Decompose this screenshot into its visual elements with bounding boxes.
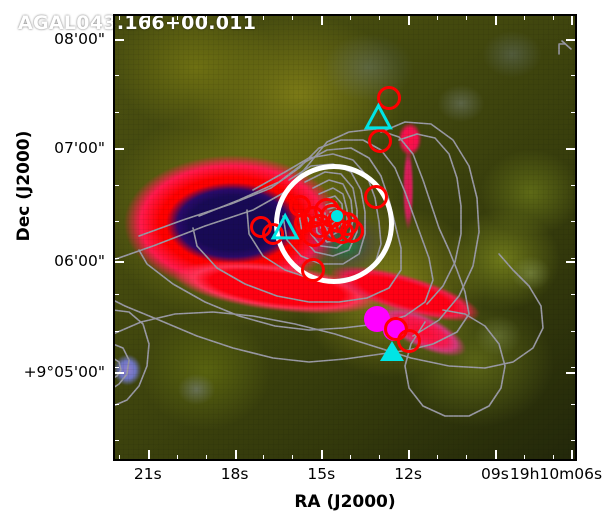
y-minor-tick xyxy=(571,294,577,295)
x-major-tick xyxy=(148,450,150,461)
y-major-tick xyxy=(566,372,577,374)
x-major-tick xyxy=(408,14,410,25)
y-major-tick xyxy=(113,261,124,263)
x-minor-tick xyxy=(177,14,178,20)
x-minor-tick xyxy=(263,14,264,20)
x-tick-label: 21s xyxy=(134,465,162,483)
y-axis-title: Dec (J2000) xyxy=(14,66,34,306)
y-minor-tick xyxy=(113,294,119,295)
y-tick-label: +9°05'00" xyxy=(24,363,105,381)
x-minor-tick xyxy=(524,14,525,20)
x-minor-tick xyxy=(553,14,554,20)
y-minor-tick xyxy=(571,331,577,332)
x-major-tick xyxy=(235,14,237,25)
y-minor-tick xyxy=(113,404,119,405)
x-minor-tick xyxy=(292,455,293,461)
x-tick-label: 15s xyxy=(307,465,335,483)
y-axis: 08'00" 07'00" 06'00" +9°05'00" Dec (J200… xyxy=(0,0,113,525)
x-minor-tick xyxy=(379,455,380,461)
y-minor-tick xyxy=(113,331,119,332)
y-minor-tick xyxy=(571,75,577,76)
x-minor-tick xyxy=(206,14,207,20)
x-minor-tick xyxy=(292,14,293,20)
x-minor-tick xyxy=(466,455,467,461)
x-minor-tick xyxy=(553,455,554,461)
y-major-tick xyxy=(566,148,577,150)
y-minor-tick xyxy=(571,258,577,259)
x-minor-tick xyxy=(119,14,120,20)
x-major-tick xyxy=(321,14,323,25)
y-minor-tick xyxy=(571,185,577,186)
x-major-tick xyxy=(148,14,150,25)
y-minor-tick xyxy=(113,185,119,186)
x-minor-tick xyxy=(379,14,380,20)
image-plot-area[interactable] xyxy=(113,14,577,461)
x-minor-tick xyxy=(206,455,207,461)
x-tick-label: 18s xyxy=(221,465,249,483)
y-minor-tick xyxy=(113,75,119,76)
x-minor-tick xyxy=(524,455,525,461)
x-minor-tick xyxy=(350,14,351,20)
page-title: AGAL043.166+00.011 xyxy=(18,12,256,34)
y-major-tick xyxy=(566,261,577,263)
y-minor-tick xyxy=(113,258,119,259)
x-minor-tick xyxy=(119,455,120,461)
x-major-tick xyxy=(235,450,237,461)
y-minor-tick xyxy=(571,440,577,441)
x-minor-tick xyxy=(350,455,351,461)
x-tick-label: 12s xyxy=(394,465,422,483)
axis-tick-marks xyxy=(113,14,577,461)
x-major-tick xyxy=(495,450,497,461)
y-minor-tick xyxy=(113,440,119,441)
x-minor-tick xyxy=(437,455,438,461)
y-minor-tick xyxy=(113,112,119,113)
y-minor-tick xyxy=(113,367,119,368)
x-tick-label: 09s xyxy=(481,465,509,483)
x-minor-tick xyxy=(263,455,264,461)
y-tick-label: 07'00" xyxy=(54,139,105,157)
y-minor-tick xyxy=(113,221,119,222)
x-axis-title: RA (J2000) xyxy=(113,492,577,512)
x-minor-tick xyxy=(177,455,178,461)
x-major-tick xyxy=(571,450,573,461)
y-major-tick xyxy=(566,39,577,41)
x-major-tick xyxy=(321,450,323,461)
x-major-tick xyxy=(495,14,497,25)
y-minor-tick xyxy=(571,221,577,222)
figure-root: 08'00" 07'00" 06'00" +9°05'00" Dec (J200… xyxy=(0,0,609,525)
y-minor-tick xyxy=(571,112,577,113)
x-major-tick xyxy=(408,450,410,461)
y-minor-tick xyxy=(571,367,577,368)
y-major-tick xyxy=(113,39,124,41)
x-major-tick xyxy=(571,14,573,25)
y-major-tick xyxy=(113,148,124,150)
x-minor-tick xyxy=(466,14,467,20)
x-minor-tick xyxy=(437,14,438,20)
y-major-tick xyxy=(113,372,124,374)
x-tick-label: 19h10m06s xyxy=(510,465,602,483)
y-tick-label: 06'00" xyxy=(54,252,105,270)
y-minor-tick xyxy=(571,404,577,405)
